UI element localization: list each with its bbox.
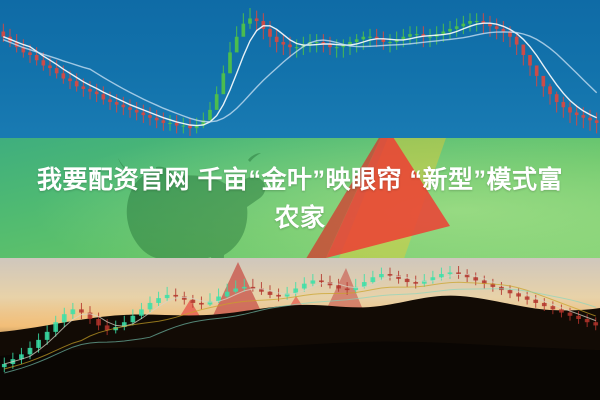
moving-average-fast-line [3,23,596,125]
moving-average-line-3 [4,289,595,373]
bottom-chart-svg [0,258,600,400]
banner-image: 我要配资官网 千亩“金叶”映眼帘 “新型”模式富 农家 [0,0,600,400]
top-candlestick-panel [0,0,600,150]
candlestick-series-dark [2,266,598,372]
headline-line-2: 农家 [274,199,325,237]
headline-text: 我要配资官网 千亩“金叶”映眼帘 “新型”模式富 农家 [0,138,600,260]
headline-line-1: 我要配资官网 千亩“金叶”映眼帘 “新型”模式富 [37,161,563,199]
moving-average-line-1 [4,274,595,364]
candlestick-series [2,8,599,136]
moving-average-slow-line [3,32,596,122]
moving-average-line-2 [4,282,595,369]
bottom-landscape-panel [0,258,600,400]
top-chart-svg [0,0,600,150]
